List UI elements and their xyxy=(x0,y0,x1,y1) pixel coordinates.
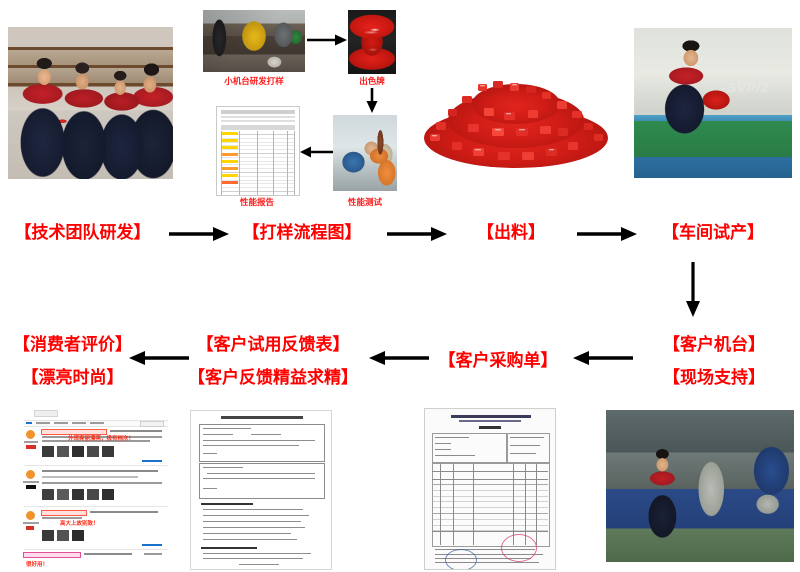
flow-arrow-6-left xyxy=(572,348,634,368)
photo-color-plate xyxy=(348,10,396,74)
photo-performance-test xyxy=(333,115,397,191)
flow-arrow-down xyxy=(682,262,704,318)
flow-arrow-5-left xyxy=(368,348,430,368)
flow-step-customer-feedback-line2: 【客户反馈精益求精】 xyxy=(178,367,368,388)
photo-customer-feedback-form xyxy=(190,410,332,570)
photo-purchase-order xyxy=(424,408,556,570)
flow-step-purchase-order: 【客户采购单】 xyxy=(428,350,568,371)
inner-arrow-left xyxy=(300,144,334,160)
inner-arrow-down xyxy=(364,88,380,114)
flow-step-customer-feedback-line1: 【客户试用反馈表】 xyxy=(178,334,368,355)
inner-arrow-right-top xyxy=(306,32,348,48)
photo-technical-team xyxy=(8,27,173,179)
flow-step-customer-machine-line2: 【现场支持】 xyxy=(636,367,792,388)
flow-step-customer-machine-line1: 【客户机台】 xyxy=(636,334,792,355)
flow-step-customer-feedback-form: 【客户试用反馈表】 【客户反馈精益求精】 xyxy=(178,334,368,388)
caption-small-machine: 小机台研发打样 xyxy=(203,76,305,87)
flow-step-consumer-review: 【消费者评价】 【漂亮时尚】 xyxy=(0,334,145,388)
photo-red-pellets xyxy=(418,68,614,178)
caption-performance-test: 性能测试 xyxy=(333,197,397,208)
flow-step-tech-team: 【技术团队研发】 xyxy=(0,222,165,243)
caption-performance-report: 性能报告 xyxy=(216,197,298,208)
caption-color-plate: 出色牌 xyxy=(346,76,398,87)
flow-arrow-2-right xyxy=(386,224,448,244)
flow-step-prototype-chart: 【打样流程图】 xyxy=(232,222,372,243)
photo-consumer-reviews: 外观亮丽漂亮，极有档次！ 高大上故别致！ xyxy=(12,406,180,568)
photo-performance-report xyxy=(216,106,300,196)
photo-workshop-inspection: -SVP/2 xyxy=(634,28,792,178)
photo-small-machine xyxy=(203,10,305,72)
flow-arrow-1-right xyxy=(168,224,230,244)
order-stamp-blue xyxy=(445,549,477,570)
flow-diagram-canvas: 小机台研发打样 出色牌 性能报告 性能测试 xyxy=(0,0,800,572)
flow-step-trial-production: 【车间试产】 xyxy=(634,222,792,243)
flow-step-consumer-review-line2: 【漂亮时尚】 xyxy=(0,367,145,388)
flow-step-discharge: 【出料】 xyxy=(456,222,566,243)
photo-injection-workshop xyxy=(606,410,794,562)
flow-step-customer-machine: 【客户机台】 【现场支持】 xyxy=(636,334,792,388)
flow-arrow-3-right xyxy=(576,224,638,244)
order-stamp-red xyxy=(501,534,537,562)
flow-step-consumer-review-line1: 【消费者评价】 xyxy=(0,334,145,355)
